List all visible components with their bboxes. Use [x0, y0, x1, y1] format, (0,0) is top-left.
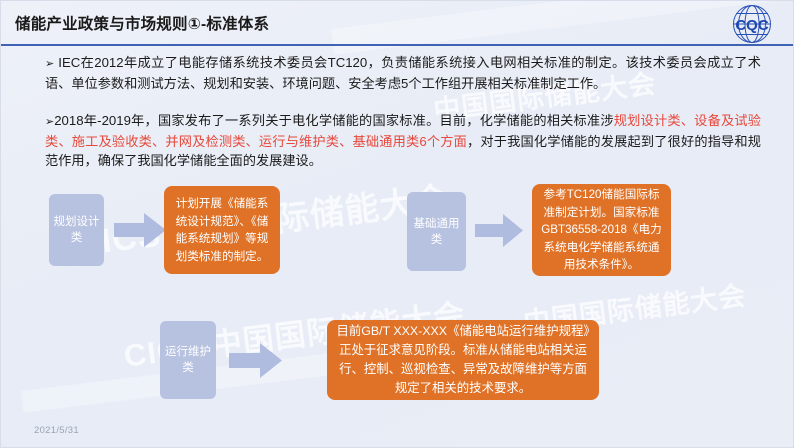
slide-canvas: CICS 中国国际储能大会 CICS 中国国际储能大会 中国国际储能大会 中国国…: [0, 0, 794, 448]
title-bar: 储能产业政策与市场规则①-标准体系: [1, 1, 794, 45]
description-box-planning-design-text: 计划开展《储能系统设计规范》、《储能系统规划》等规划类标准的制定。: [173, 195, 271, 265]
category-box-operation-maintenance-label: 运行维护类: [164, 344, 212, 376]
description-box-general-text: 参考TC120储能国际标准制定计划。国家标准GBT36558-2018《电力系统…: [541, 186, 662, 274]
paragraph-2-text-before: 2018年-2019年，国家发布了一系列关于电化学储能的国家标准。目前，化学储能…: [54, 113, 614, 128]
paragraph-1-text: IEC在2012年成立了电能存储系统技术委员会TC120，负责储能系统接入电网相…: [45, 55, 761, 91]
description-box-operation-maintenance: 目前GB/T XXX-XXX《储能电站运行维护规程》正处于征求意见阶段。标准从储…: [327, 320, 599, 400]
description-box-operation-maintenance-text: 目前GB/T XXX-XXX《储能电站运行维护规程》正处于征求意见阶段。标准从储…: [336, 322, 590, 398]
cqc-logo-icon: CQC: [719, 4, 785, 44]
category-box-operation-maintenance: 运行维护类: [160, 321, 216, 399]
description-box-planning-design: 计划开展《储能系统设计规范》、《储能系统规划》等规划类标准的制定。: [164, 186, 280, 274]
paragraph-iec: ➢ IEC在2012年成立了电能存储系统技术委员会TC120，负责储能系统接入电…: [45, 53, 761, 93]
category-box-general-label: 基础通用类: [411, 216, 462, 248]
category-box-planning-design-label: 规划设计类: [53, 214, 100, 246]
paragraph-national-standards: ➢2018年-2019年，国家发布了一系列关于电化学储能的国家标准。目前，化学储…: [45, 111, 761, 171]
footer-date: 2021/5/31: [34, 425, 79, 436]
description-box-general: 参考TC120储能国际标准制定计划。国家标准GBT36558-2018《电力系统…: [532, 184, 671, 276]
title-underline: [1, 44, 794, 46]
cqc-logo-text: CQC: [735, 17, 769, 34]
arrow-icon-row2: [475, 214, 523, 247]
arrow-icon-row1: [114, 213, 166, 247]
category-box-planning-design: 规划设计类: [49, 194, 104, 266]
bullet-icon-1: ➢: [45, 58, 54, 70]
arrow-icon-row3: [229, 343, 282, 378]
bullet-icon-2: ➢: [45, 116, 54, 128]
category-box-general: 基础通用类: [407, 192, 466, 271]
page-title: 储能产业政策与市场规则①-标准体系: [15, 12, 269, 34]
